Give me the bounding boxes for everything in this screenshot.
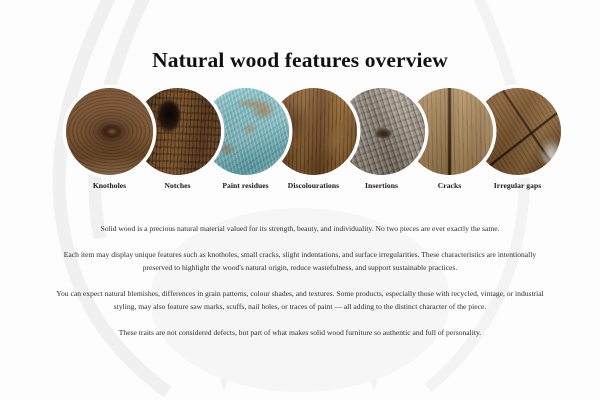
infographic-page: Natural wood features overview Knotholes… — [0, 0, 600, 400]
feature-caption: Irregular gaps — [460, 181, 575, 190]
body-copy: Solid wood is a precious natural materia… — [40, 222, 560, 339]
feature-swatch[interactable] — [66, 88, 153, 175]
body-paragraph-4: These traits are not considered defects,… — [40, 326, 560, 339]
body-paragraph-2: Each item may display unique features su… — [40, 248, 560, 274]
feature-swatch-strip — [0, 88, 600, 178]
wood-texture-fill — [66, 88, 153, 175]
body-paragraph-1: Solid wood is a precious natural materia… — [40, 222, 560, 235]
page-title: Natural wood features overview — [0, 47, 600, 73]
body-paragraph-3: You can expect natural blemishes, differ… — [40, 287, 560, 313]
feature-caption-row: KnotholesNotchesPaint residuesDiscoloura… — [0, 181, 600, 195]
wood-knothole-swatch-icon — [66, 88, 153, 175]
